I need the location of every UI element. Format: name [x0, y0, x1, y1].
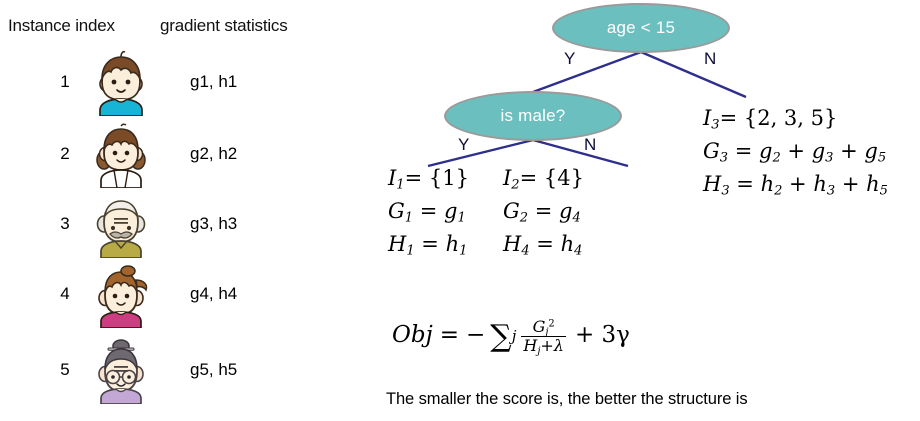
- objective-minus: −: [466, 324, 485, 347]
- leaf-1-instance-set: I1= {1}: [388, 168, 469, 201]
- leaf-1-hessian-sum: H1 = h1: [388, 234, 469, 267]
- row-index-label: 5: [54, 360, 76, 380]
- leaf-2-gradient-sum: G2 = g4: [503, 201, 584, 234]
- leaf-stats-1: I1= {1} G1 = g1 H1 = h1: [388, 168, 469, 267]
- caption-text: The smaller the score is, the better the…: [386, 390, 748, 409]
- row-gradient-stats: g2, h2: [190, 144, 237, 164]
- column-header-gradient-statistics: gradient statistics: [160, 16, 288, 36]
- leaf-3-hessian-sum: H3 = h2 + h3 + h5: [703, 174, 888, 207]
- leaf-1-gradient-sum: G1 = g1: [388, 201, 469, 234]
- fraction-denominator: Hj+λ: [521, 336, 566, 354]
- objective-equals: =: [440, 324, 459, 347]
- row-index-label: 3: [54, 214, 76, 234]
- leaf-3-instance-set: I3= {2, 3, 5}: [703, 108, 888, 141]
- column-header-instance-index: Instance index: [8, 16, 115, 36]
- fraction-numerator: Gj2: [531, 319, 557, 336]
- young-woman-avatar: [88, 260, 154, 328]
- leaf-stats-2: I2= {4} G2 = g4 H4 = h4: [503, 168, 584, 267]
- row-index-label: 1: [54, 72, 76, 92]
- edge-label-is-male-no: N: [584, 135, 596, 155]
- objective-lhs: Obj: [392, 324, 433, 347]
- leaf-2-hessian-sum: H4 = h4: [503, 234, 584, 267]
- boy-child-avatar: [88, 48, 154, 116]
- instance-table-panel: Instance index gradient statistics 1 g1,…: [0, 0, 340, 421]
- tree-node-root[interactable]: age < 15: [552, 3, 730, 53]
- leaf-stats-3: I3= {2, 3, 5} G3 = g2 + g3 + g5 H3 = h2 …: [703, 108, 888, 207]
- row-index-label: 2: [54, 144, 76, 164]
- row-gradient-stats: g4, h4: [190, 284, 237, 304]
- row-index-label: 4: [54, 284, 76, 304]
- edge-label-root-no: N: [704, 49, 716, 69]
- leaf-2-instance-set: I2= {4}: [503, 168, 584, 201]
- objective-formula: Obj = − ∑j Gj2 Hj+λ + 3γ: [392, 318, 630, 353]
- tree-node-is-male[interactable]: is male?: [444, 91, 622, 141]
- summation-symbol: ∑: [490, 322, 511, 352]
- table-row: 2 g2, h2: [0, 118, 340, 188]
- old-man-avatar: [88, 190, 154, 258]
- table-row: 5 g5, h5: [0, 334, 340, 404]
- table-row: 1 g1, h1: [0, 46, 340, 116]
- row-gradient-stats: g3, h3: [190, 214, 237, 234]
- row-gradient-stats: g1, h1: [190, 72, 237, 92]
- edge-label-is-male-yes: Y: [458, 135, 469, 155]
- table-row: 3 g3, h3: [0, 188, 340, 258]
- row-gradient-stats: g5, h5: [190, 360, 237, 380]
- old-woman-avatar: [88, 336, 154, 404]
- decision-tree-panel: age < 15 Y N is male? Y N I1= {1} G1 = g…: [340, 0, 920, 421]
- objective-tail: + 3γ: [575, 324, 630, 347]
- leaf-3-gradient-sum: G3 = g2 + g3 + g5: [703, 141, 888, 174]
- girl-child-avatar: [88, 120, 154, 188]
- objective-fraction: Gj2 Hj+λ: [521, 319, 566, 354]
- table-row: 4 g4, h4: [0, 258, 340, 328]
- edge-label-root-yes: Y: [564, 49, 575, 69]
